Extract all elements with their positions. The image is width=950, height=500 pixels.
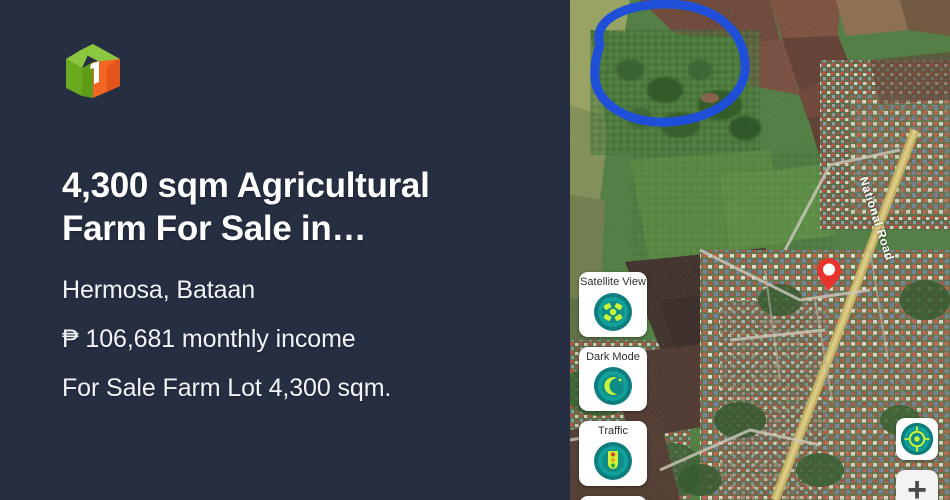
my-location-icon [900, 422, 934, 456]
listing-summary: For Sale Farm Lot 4,300 sqm. [62, 376, 510, 401]
brand-logo [62, 40, 124, 102]
listing-meta: Hermosa, Bataan ₱ 106,681 monthly income… [62, 278, 510, 401]
listing-location: Hermosa, Bataan [62, 278, 510, 303]
map-panel[interactable]: National Road Satellite View D [570, 0, 950, 500]
layer-label: Traffic [598, 425, 628, 438]
zoom-in-button[interactable]: + [896, 470, 938, 500]
satellite-icon [593, 292, 633, 332]
map-layer-satellite-view[interactable]: Satellite View [579, 272, 647, 337]
page-title: 4,300 sqm Agricultural Farm For Sale in… [62, 164, 510, 250]
plus-icon: + [907, 476, 927, 500]
map-layer-normal[interactable]: Normal [579, 496, 647, 500]
house-one-logo-icon [62, 40, 124, 102]
my-location-button[interactable] [896, 418, 938, 460]
map-layer-controls[interactable]: Satellite View Dark Mode [579, 272, 647, 500]
map-pin-marker[interactable] [817, 258, 841, 290]
listing-info-panel: 4,300 sqm Agricultural Farm For Sale in…… [0, 0, 570, 500]
map-layer-dark-mode[interactable]: Dark Mode [579, 347, 647, 412]
traffic-light-icon [593, 441, 633, 481]
map-layer-traffic[interactable]: Traffic [579, 421, 647, 486]
listing-income: ₱ 106,681 monthly income [62, 327, 510, 352]
layer-label: Satellite View [580, 276, 646, 289]
layer-label: Dark Mode [586, 351, 640, 364]
moon-icon [593, 366, 633, 406]
